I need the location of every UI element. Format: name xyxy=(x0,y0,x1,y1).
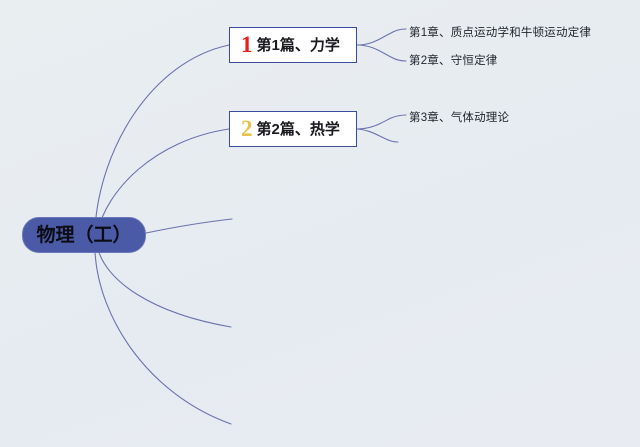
root-node[interactable]: 物理（工） xyxy=(22,217,146,253)
topic-number-1: 1 xyxy=(241,33,253,56)
topic-node-2[interactable]: 2 第2篇、热学 xyxy=(229,111,357,147)
connector-root-to-branch-4 xyxy=(98,249,231,327)
topic-label-2: 第2篇、热学 xyxy=(257,122,340,137)
leaf-label-chapter-3[interactable]: 第3章、气体动理论 xyxy=(409,113,509,125)
connector-topic-1-fork-lower xyxy=(357,45,406,61)
topic-number-2: 2 xyxy=(241,117,253,140)
connector-root-to-branch-5 xyxy=(95,252,231,424)
connector-root-to-branch-3 xyxy=(146,219,232,233)
topic-label-1: 第1篇、力学 xyxy=(257,38,340,53)
topic-node-1[interactable]: 1 第1篇、力学 xyxy=(229,27,357,63)
mindmap-canvas: 物理（工） 1 第1篇、力学 2 第2篇、热学 第1章、质点运动学和牛顿运动定律… xyxy=(0,0,640,447)
root-node-label: 物理（工） xyxy=(36,226,131,245)
leaf-label-chapter-1[interactable]: 第1章、质点运动学和牛顿运动定律 xyxy=(409,28,591,40)
connector-topic-1-fork-upper xyxy=(357,29,406,45)
leaf-label-chapter-2[interactable]: 第2章、守恒定律 xyxy=(409,56,498,68)
connector-topic-2-fork-upper xyxy=(357,115,406,129)
connector-topic-2-fork-lower xyxy=(357,129,398,142)
connector-root-to-topic-1 xyxy=(95,45,229,228)
